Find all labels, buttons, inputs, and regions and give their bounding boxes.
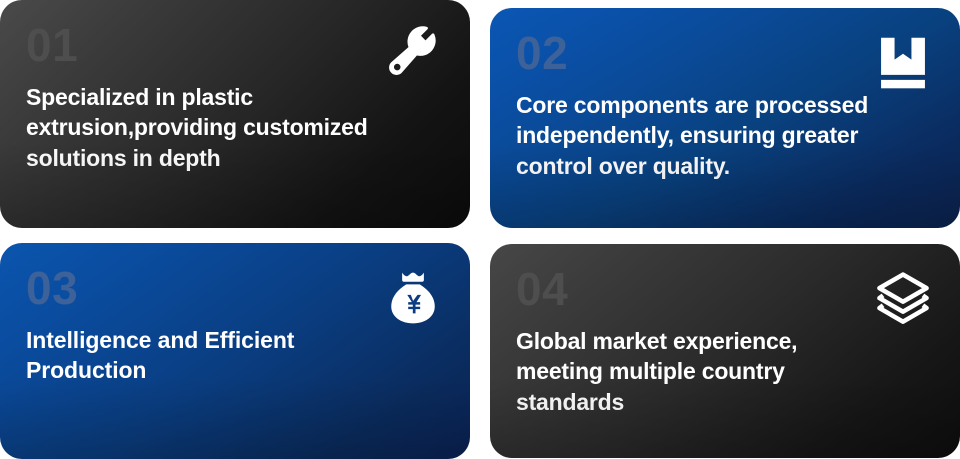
wrench-icon <box>382 24 444 86</box>
card-title-01: Specialized in plastic extrusion,providi… <box>26 82 444 173</box>
card-title-02: Core components are processed independen… <box>516 90 934 181</box>
card-title-03: Intelligence and Efficient Production <box>26 325 444 386</box>
feature-card-02[interactable]: 02 Core components are processed indepen… <box>490 8 960 228</box>
card-title-04: Global market experience, meeting multip… <box>516 326 934 417</box>
feature-card-04[interactable]: 04 Global market experience, meeting mul… <box>490 244 960 458</box>
feature-cards-grid: 01 Specialized in plastic extrusion,prov… <box>0 0 960 459</box>
feature-card-03[interactable]: 03 Intelligence and Efficient Production <box>0 243 470 459</box>
feature-card-01[interactable]: 01 Specialized in plastic extrusion,prov… <box>0 0 470 228</box>
layers-stack-icon <box>872 268 934 330</box>
money-bag-yen-icon <box>382 267 444 329</box>
book-bookmark-icon <box>872 32 934 94</box>
